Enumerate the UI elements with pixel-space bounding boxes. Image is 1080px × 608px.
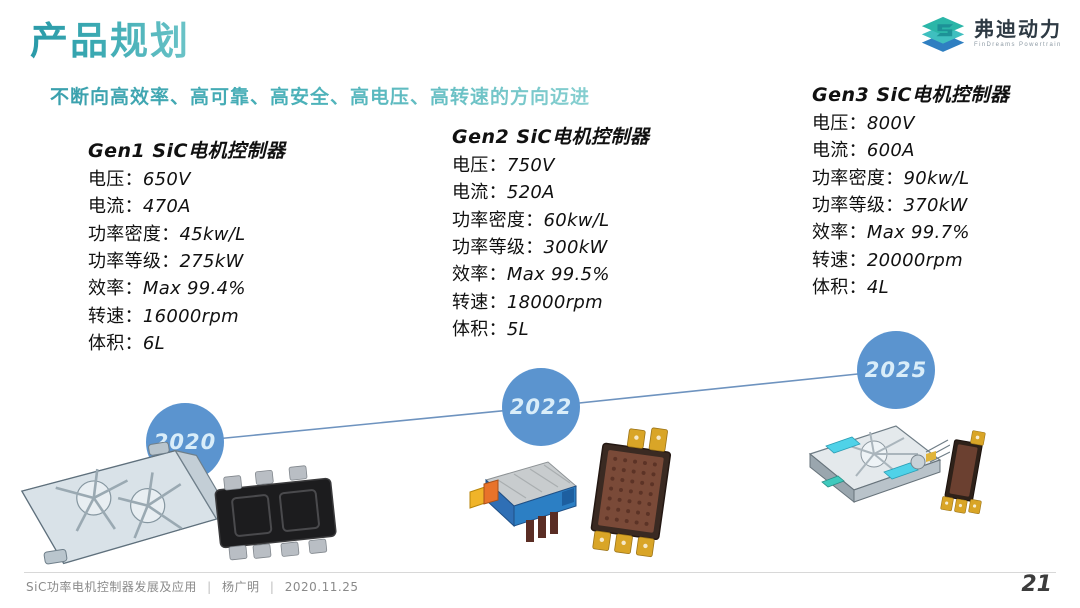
gen3-power-module-photo	[935, 422, 997, 527]
spec-value: 750V	[507, 155, 555, 176]
logo-name-en: FinDreams Powertrain	[974, 42, 1062, 48]
spec-value: Max 99.7%	[867, 222, 970, 243]
spec-row-voltage: 电压：750V	[452, 152, 649, 179]
spec-value: 520A	[507, 182, 555, 203]
spec-row-speed: 转速：16000rpm	[88, 303, 285, 330]
spec-label: 电压：	[88, 169, 143, 190]
spec-row-power-level: 功率等级：370kW	[812, 192, 1009, 219]
spec-row-speed: 转速：20000rpm	[812, 247, 1009, 274]
spec-value: 60kw/L	[544, 210, 610, 231]
spec-value: 800V	[867, 113, 915, 134]
spec-row-volume: 体积：6L	[88, 330, 285, 357]
footer-date: 2020.11.25	[285, 580, 359, 594]
spec-value: 16000rpm	[143, 306, 239, 327]
page-title: 产品规划	[30, 10, 190, 65]
spec-label: 功率密度：	[452, 210, 544, 231]
spec-value: 470A	[143, 196, 191, 217]
gen2-power-module-photo	[580, 420, 690, 575]
spec-row-power-level: 功率等级：300kW	[452, 234, 649, 261]
spec-label: 功率密度：	[88, 224, 180, 245]
gen1-power-module-photo	[212, 458, 340, 576]
spec-row-efficiency: 效率：Max 99.4%	[88, 275, 285, 302]
footer-separator-2: |	[270, 580, 275, 594]
timeline-year-2022[interactable]: 2022	[502, 368, 580, 446]
spec-value: 20000rpm	[867, 250, 963, 271]
spec-label: 电流：	[452, 182, 507, 203]
spec-label: 体积：	[452, 319, 507, 340]
spec-value: 4L	[867, 277, 889, 298]
spec-label: 功率密度：	[812, 168, 904, 189]
layered-diamond-logo-icon	[920, 12, 966, 54]
spec-row-voltage: 电压：650V	[88, 166, 285, 193]
spec-label: 功率等级：	[452, 237, 544, 258]
spec-value: 6L	[143, 333, 165, 354]
slide-root: 产品规划 不断向高效率、高可靠、高安全、高电压、高转速的方向迈进 弗迪动力 Fi…	[0, 0, 1080, 608]
spec-heading-gen3: Gen3 SiC电机控制器	[812, 80, 1009, 107]
logo-name-cn: 弗迪动力	[974, 19, 1062, 40]
spec-value: 300kW	[544, 237, 608, 258]
spec-value: 5L	[507, 319, 529, 340]
logo-text: 弗迪动力 FinDreams Powertrain	[974, 19, 1062, 48]
spec-label: 转速：	[88, 306, 143, 327]
spec-row-speed: 转速：18000rpm	[452, 289, 649, 316]
spec-row-voltage: 电压：800V	[812, 110, 1009, 137]
spec-value: 275kW	[180, 251, 244, 272]
spec-heading-gen1: Gen1 SiC电机控制器	[88, 136, 285, 163]
page-subtitle: 不断向高效率、高可靠、高安全、高电压、高转速的方向迈进	[50, 82, 590, 109]
spec-value: 650V	[143, 169, 191, 190]
spec-label: 效率：	[812, 222, 867, 243]
spec-label: 转速：	[452, 292, 507, 313]
spec-row-power-density: 功率密度：90kw/L	[812, 165, 1009, 192]
spec-label: 电压：	[812, 113, 867, 134]
spec-value: Max 99.5%	[507, 264, 610, 285]
timeline-year-2025[interactable]: 2025	[857, 331, 935, 409]
spec-row-efficiency: 效率：Max 99.5%	[452, 261, 649, 288]
spec-label: 体积：	[88, 333, 143, 354]
spec-label: 电流：	[812, 140, 867, 161]
footer-caption: SiC功率电机控制器发展及应用 | 杨广明 | 2020.11.25	[26, 578, 358, 595]
gen2-controller-photo	[440, 440, 580, 560]
spec-row-power-level: 功率等级：275kW	[88, 248, 285, 275]
footer-separator-1: |	[207, 580, 212, 594]
spec-value: 600A	[867, 140, 915, 161]
spec-row-efficiency: 效率：Max 99.7%	[812, 219, 1009, 246]
spec-label: 功率等级：	[88, 251, 180, 272]
spec-value: 45kw/L	[180, 224, 246, 245]
spec-value: 370kW	[904, 195, 968, 216]
spec-label: 电流：	[88, 196, 143, 217]
spec-row-current: 电流：520A	[452, 179, 649, 206]
spec-block-gen3: Gen3 SiC电机控制器 电压：800V 电流：600A 功率密度：90kw/…	[812, 80, 1009, 302]
spec-value: 90kw/L	[904, 168, 970, 189]
spec-heading-gen2: Gen2 SiC电机控制器	[452, 122, 649, 149]
page-number: 21	[1021, 572, 1052, 597]
spec-row-volume: 体积：4L	[812, 274, 1009, 301]
spec-label: 效率：	[88, 278, 143, 299]
brand-logo: 弗迪动力 FinDreams Powertrain	[920, 12, 1062, 54]
footer-divider	[24, 572, 1056, 573]
spec-label: 功率等级：	[812, 195, 904, 216]
gen3-controller-photo	[800, 410, 950, 530]
spec-row-current: 电流：470A	[88, 193, 285, 220]
spec-label: 体积：	[812, 277, 867, 298]
spec-value: 18000rpm	[507, 292, 603, 313]
spec-label: 转速：	[812, 250, 867, 271]
spec-row-volume: 体积：5L	[452, 316, 649, 343]
spec-block-gen1: Gen1 SiC电机控制器 电压：650V 电流：470A 功率密度：45kw/…	[88, 136, 285, 358]
spec-row-power-density: 功率密度：45kw/L	[88, 221, 285, 248]
spec-label: 电压：	[452, 155, 507, 176]
spec-block-gen2: Gen2 SiC电机控制器 电压：750V 电流：520A 功率密度：60kw/…	[452, 122, 649, 344]
gen1-controller-photo	[8, 442, 233, 577]
spec-row-power-density: 功率密度：60kw/L	[452, 207, 649, 234]
spec-row-current: 电流：600A	[812, 137, 1009, 164]
spec-label: 效率：	[452, 264, 507, 285]
spec-value: Max 99.4%	[143, 278, 246, 299]
footer-author: 杨广明	[222, 580, 260, 594]
footer-doc-title: SiC功率电机控制器发展及应用	[26, 580, 197, 594]
